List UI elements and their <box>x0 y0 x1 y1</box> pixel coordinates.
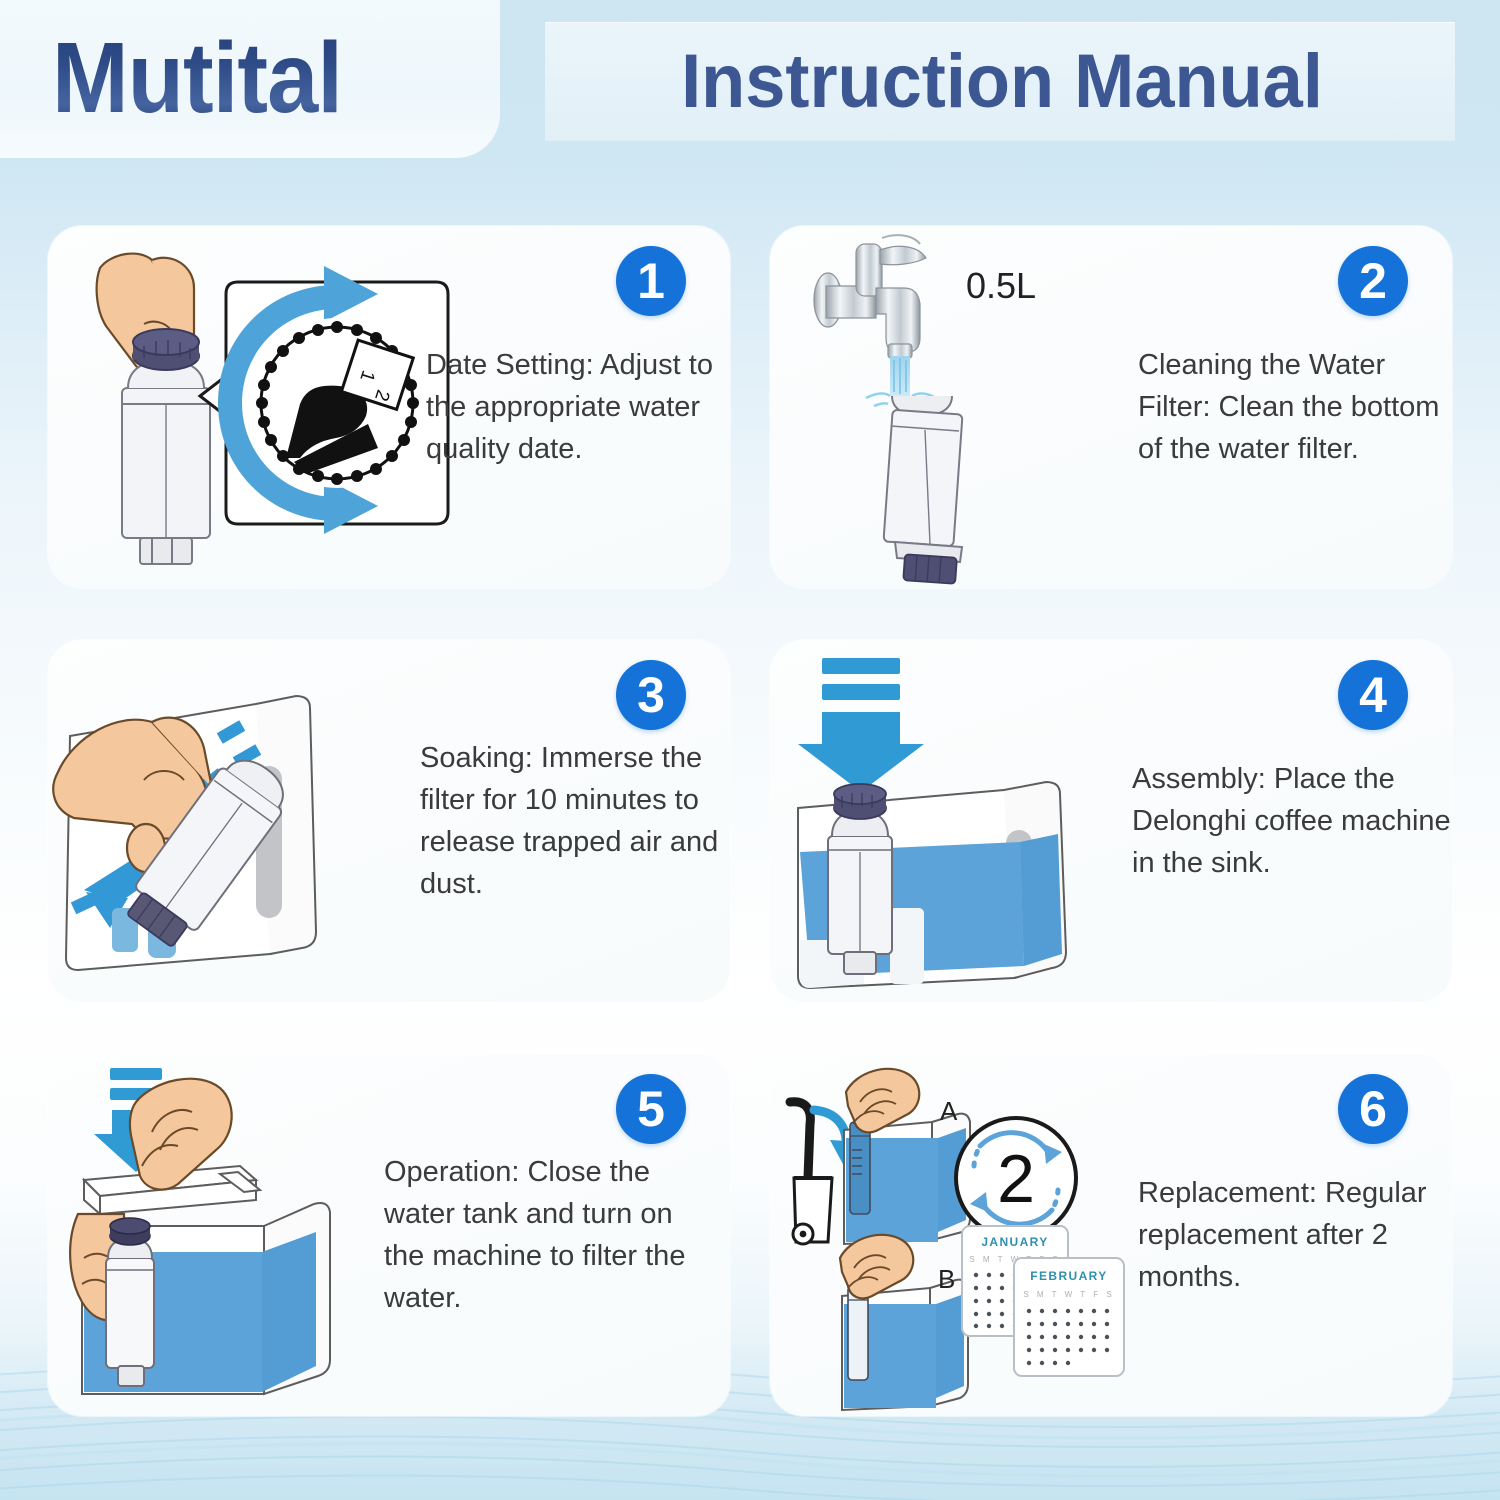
label-a: A <box>940 1096 958 1126</box>
step-description-6: Replacement: Regular replacement after 2… <box>1138 1172 1438 1298</box>
step-number-badge-6: 6 <box>1338 1074 1408 1144</box>
down-arrow-icon <box>798 658 924 792</box>
volume-label: 0.5L <box>966 265 1036 306</box>
steps-grid: 1 <box>48 226 1452 1416</box>
step-number-badge-5: 5 <box>616 1074 686 1144</box>
calendar-february: FEBRUARY S M T W T F S <box>1014 1258 1124 1376</box>
step-description-5: Operation: Close the water tank and turn… <box>384 1151 714 1319</box>
page-header: Mutital Instruction Manual <box>0 0 1500 158</box>
brand-logo-text: Mutital <box>52 19 342 137</box>
step-card-6: 6 <box>770 1054 1452 1416</box>
step-description-4: Assembly: Place the Delonghi coffee mach… <box>1132 758 1452 884</box>
insert-filter-into-tank-icon <box>770 640 1190 1002</box>
svg-text:S M T W T F S: S M T W T F S <box>1023 1290 1114 1299</box>
step-card-1: 1 <box>48 226 730 588</box>
soak-filter-in-tank-icon <box>48 640 468 1002</box>
months-number: 2 <box>997 1141 1035 1217</box>
step-description-1: Date Setting: Adjust to the appropriate … <box>426 344 726 470</box>
step-number-badge-1: 1 <box>616 246 686 316</box>
label-b: B <box>938 1264 955 1294</box>
step-card-3: 3 <box>48 640 730 1002</box>
step-number-badge-2: 2 <box>1338 246 1408 316</box>
step-number-badge-3: 3 <box>616 660 686 730</box>
step-card-4: 4 <box>770 640 1452 1002</box>
page-background: Mutital Instruction Manual 1 <box>0 0 1500 1500</box>
page-title: Instruction Manual <box>613 30 1392 134</box>
step-card-5: 5 <box>48 1054 730 1416</box>
water-filter-dial-icon: 1 2 <box>48 226 468 588</box>
step-description-3: Soaking: Immerse the filter for 10 minut… <box>420 737 726 905</box>
replace-filter-calendar-icon: A <box>770 1054 1142 1416</box>
step-card-2: 2 <box>770 226 1452 588</box>
step-number-badge-4: 4 <box>1338 660 1408 730</box>
svg-text:FEBRUARY: FEBRUARY <box>1030 1269 1107 1283</box>
faucet-rinse-filter-icon: 0.5L <box>770 226 1160 588</box>
step-description-2: Cleaning the Water Filter: Clean the bot… <box>1138 344 1450 470</box>
svg-text:JANUARY: JANUARY <box>981 1235 1048 1249</box>
